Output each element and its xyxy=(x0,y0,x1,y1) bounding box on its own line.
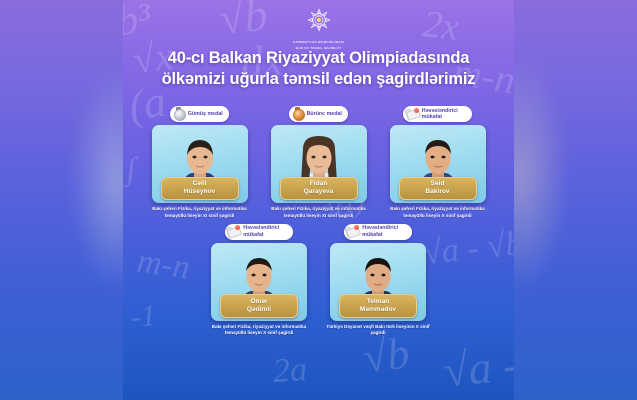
student-first-name: Telman xyxy=(343,298,413,306)
student-card[interactable]: Həvəsləndirici mükafat xyxy=(383,106,493,220)
student-last-name: Hüseynov xyxy=(165,188,235,196)
student-nameplate: Ömər Qədimli xyxy=(220,294,298,317)
student-cards: Gümüş medal xyxy=(123,106,514,337)
student-photo: Fidan Qarayeva xyxy=(271,125,367,203)
student-card[interactable]: Həvəsləndirici mükafat xyxy=(323,224,433,338)
student-nameplate: Telman Məmmədov xyxy=(339,294,417,317)
award-badge: Həvəsləndirici mükafat xyxy=(225,224,294,240)
student-first-name: Ömər xyxy=(224,298,294,306)
formula-glyph: √a - √b xyxy=(441,331,514,398)
award-label: Həvəsləndirici mükafat xyxy=(243,225,287,238)
silver-medal-icon xyxy=(173,108,185,120)
student-nameplate: Cəlil Hüseynov xyxy=(161,177,239,200)
student-description: Bakı şəhəri Fizika, riyaziyyat və inform… xyxy=(386,206,490,219)
student-photo: Cəlil Hüseynov xyxy=(152,125,248,203)
award-badge: Həvəsləndirici mükafat xyxy=(344,224,413,240)
student-nameplate: Səid Bakirov xyxy=(399,177,477,200)
award-label: Həvəsləndirici mükafat xyxy=(362,225,406,238)
student-row-2: Həvəsləndirici mükafat xyxy=(123,224,514,338)
emblem-line-1: AZƏRBAYCAN RESPUBLİKASI xyxy=(123,40,514,44)
award-label: Gümüş medal xyxy=(188,111,223,118)
student-description: Türkiyə Dəyanət vəqfi Bakı türk liseyini… xyxy=(326,324,430,337)
page-title: 40-cı Balkan Riyaziyyat Olimpiadasında ö… xyxy=(123,48,514,91)
student-photo: Səid Bakirov xyxy=(390,125,486,203)
student-description: Bakı şəhəri Fizika, riyaziyyat və inform… xyxy=(148,206,252,219)
award-badge: Həvəsləndirici mükafat xyxy=(403,106,472,122)
student-row-1: Gümüş medal xyxy=(123,106,514,220)
student-description: Bakı şəhəri Fizika, riyaziyyat və inform… xyxy=(267,206,371,219)
award-label: Bürünc medal xyxy=(307,111,342,118)
student-photo: Ömər Qədimli xyxy=(211,243,307,321)
student-last-name: Bakirov xyxy=(403,188,473,196)
certificate-scroll-icon xyxy=(227,225,240,238)
formula-glyph: 2a xyxy=(272,351,309,391)
award-badge: Gümüş medal xyxy=(170,106,229,122)
student-last-name: Qarayeva xyxy=(284,188,354,196)
poster-stage: b³ √b √x dx (a 2x m-n a² √a - √b √b √a -… xyxy=(0,0,637,400)
certificate-scroll-icon xyxy=(346,225,359,238)
award-badge: Bürünc medal xyxy=(289,106,348,122)
student-photo: Telman Məmmədov xyxy=(330,243,426,321)
student-card[interactable]: Gümüş medal xyxy=(145,106,255,220)
bronze-medal-icon xyxy=(292,108,304,120)
title-line-2: ölkəmizi uğurla təmsil edən şagirdlərimi… xyxy=(131,69,506,90)
student-last-name: Məmmədov xyxy=(343,306,413,314)
student-card[interactable]: Həvəsləndirici mükafat xyxy=(204,224,314,338)
azerbaijan-ministry-emblem-icon xyxy=(306,7,332,38)
student-nameplate: Fidan Qarayeva xyxy=(280,177,358,200)
certificate-scroll-icon xyxy=(406,108,419,121)
title-line-1: 40-cı Balkan Riyaziyyat Olimpiadasında xyxy=(131,48,506,69)
student-last-name: Qədimli xyxy=(224,306,294,314)
student-description: Bakı şəhəri Fizika, riyaziyyat və inform… xyxy=(207,324,311,337)
ministry-emblem-block: AZƏRBAYCAN RESPUBLİKASI ELM VƏ TƏHSİL NA… xyxy=(123,7,514,51)
award-label: Həvəsləndirici mükafat xyxy=(422,108,466,121)
student-card[interactable]: Bürünc medal xyxy=(264,106,374,220)
poster-panel: b³ √b √x dx (a 2x m-n a² √a - √b √b √a -… xyxy=(123,0,514,400)
